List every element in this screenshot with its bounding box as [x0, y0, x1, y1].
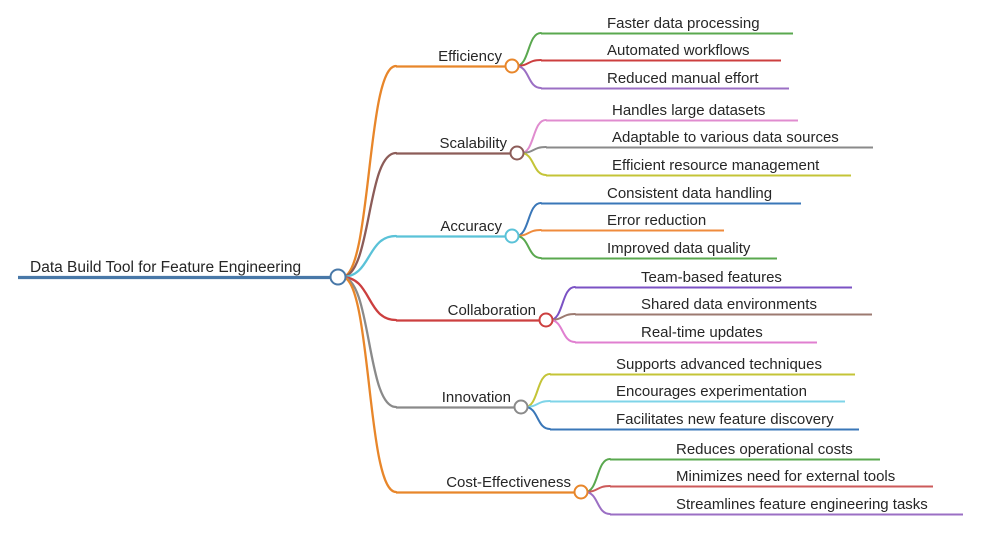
branch-node-circle-1[interactable]: [511, 147, 524, 160]
branch-node-circle-0[interactable]: [506, 60, 519, 73]
leaf-label-1-2: Efficient resource management: [612, 157, 820, 174]
leaf-label-0-0: Faster data processing: [607, 15, 760, 32]
leaf-label-4-1: Encourages experimentation: [616, 383, 807, 400]
leaf-label-4-2: Facilitates new feature discovery: [616, 411, 834, 428]
leaf-edge: [516, 60, 541, 66]
leaf-edge: [525, 401, 550, 407]
leaf-edge: [550, 314, 575, 320]
leaf-label-0-1: Automated workflows: [607, 42, 750, 59]
leaf-label-1-0: Handles large datasets: [612, 102, 765, 119]
leaf-label-0-2: Reduced manual effort: [607, 70, 759, 87]
leaf-label-3-0: Team-based features: [641, 269, 782, 286]
branch-node-circle-2[interactable]: [506, 230, 519, 243]
root-label: Data Build Tool for Feature Engineering: [30, 259, 301, 276]
leaf-edge-group: [516, 33, 610, 514]
node-circle-group: [331, 60, 588, 499]
branch-label-2: Accuracy: [440, 218, 502, 235]
leaf-label-2-2: Improved data quality: [607, 240, 751, 257]
leaf-label-5-2: Streamlines feature engineering tasks: [676, 496, 928, 513]
mindmap-canvas: Data Build Tool for Feature EngineeringE…: [0, 0, 985, 544]
leaf-edge: [521, 153, 546, 175]
branch-node-circle-5[interactable]: [575, 486, 588, 499]
leaf-edge: [585, 486, 610, 492]
branch-label-3: Collaboration: [448, 302, 536, 319]
branch-node-circle-4[interactable]: [515, 401, 528, 414]
leaf-edge: [585, 492, 610, 514]
leaf-label-2-1: Error reduction: [607, 212, 706, 229]
leaf-label-5-1: Minimizes need for external tools: [676, 468, 895, 485]
mindmap-diagram: Data Build Tool for Feature EngineeringE…: [0, 0, 985, 544]
root-node-circle[interactable]: [331, 270, 346, 285]
leaf-label-4-0: Supports advanced techniques: [616, 356, 822, 373]
branch-label-1: Scalability: [439, 135, 507, 152]
leaf-label-5-0: Reduces operational costs: [676, 441, 853, 458]
leaf-edge: [521, 147, 546, 153]
leaf-edge: [516, 230, 541, 236]
leaf-edge: [516, 66, 541, 88]
branch-node-circle-3[interactable]: [540, 314, 553, 327]
label-group: Data Build Tool for Feature EngineeringE…: [30, 15, 928, 513]
leaf-edge: [525, 407, 550, 429]
branch-edge: [342, 277, 396, 492]
branch-edge-group: [342, 66, 396, 492]
leaf-label-3-2: Real-time updates: [641, 324, 763, 341]
branch-edge: [342, 66, 396, 277]
leaf-edge: [550, 320, 575, 342]
leaf-edge: [516, 236, 541, 258]
leaf-label-1-1: Adaptable to various data sources: [612, 129, 839, 146]
branch-label-5: Cost-Effectiveness: [446, 474, 571, 491]
leaf-label-2-0: Consistent data handling: [607, 185, 772, 202]
branch-label-4: Innovation: [442, 389, 511, 406]
branch-label-0: Efficiency: [438, 48, 502, 65]
leaf-label-3-1: Shared data environments: [641, 296, 817, 313]
